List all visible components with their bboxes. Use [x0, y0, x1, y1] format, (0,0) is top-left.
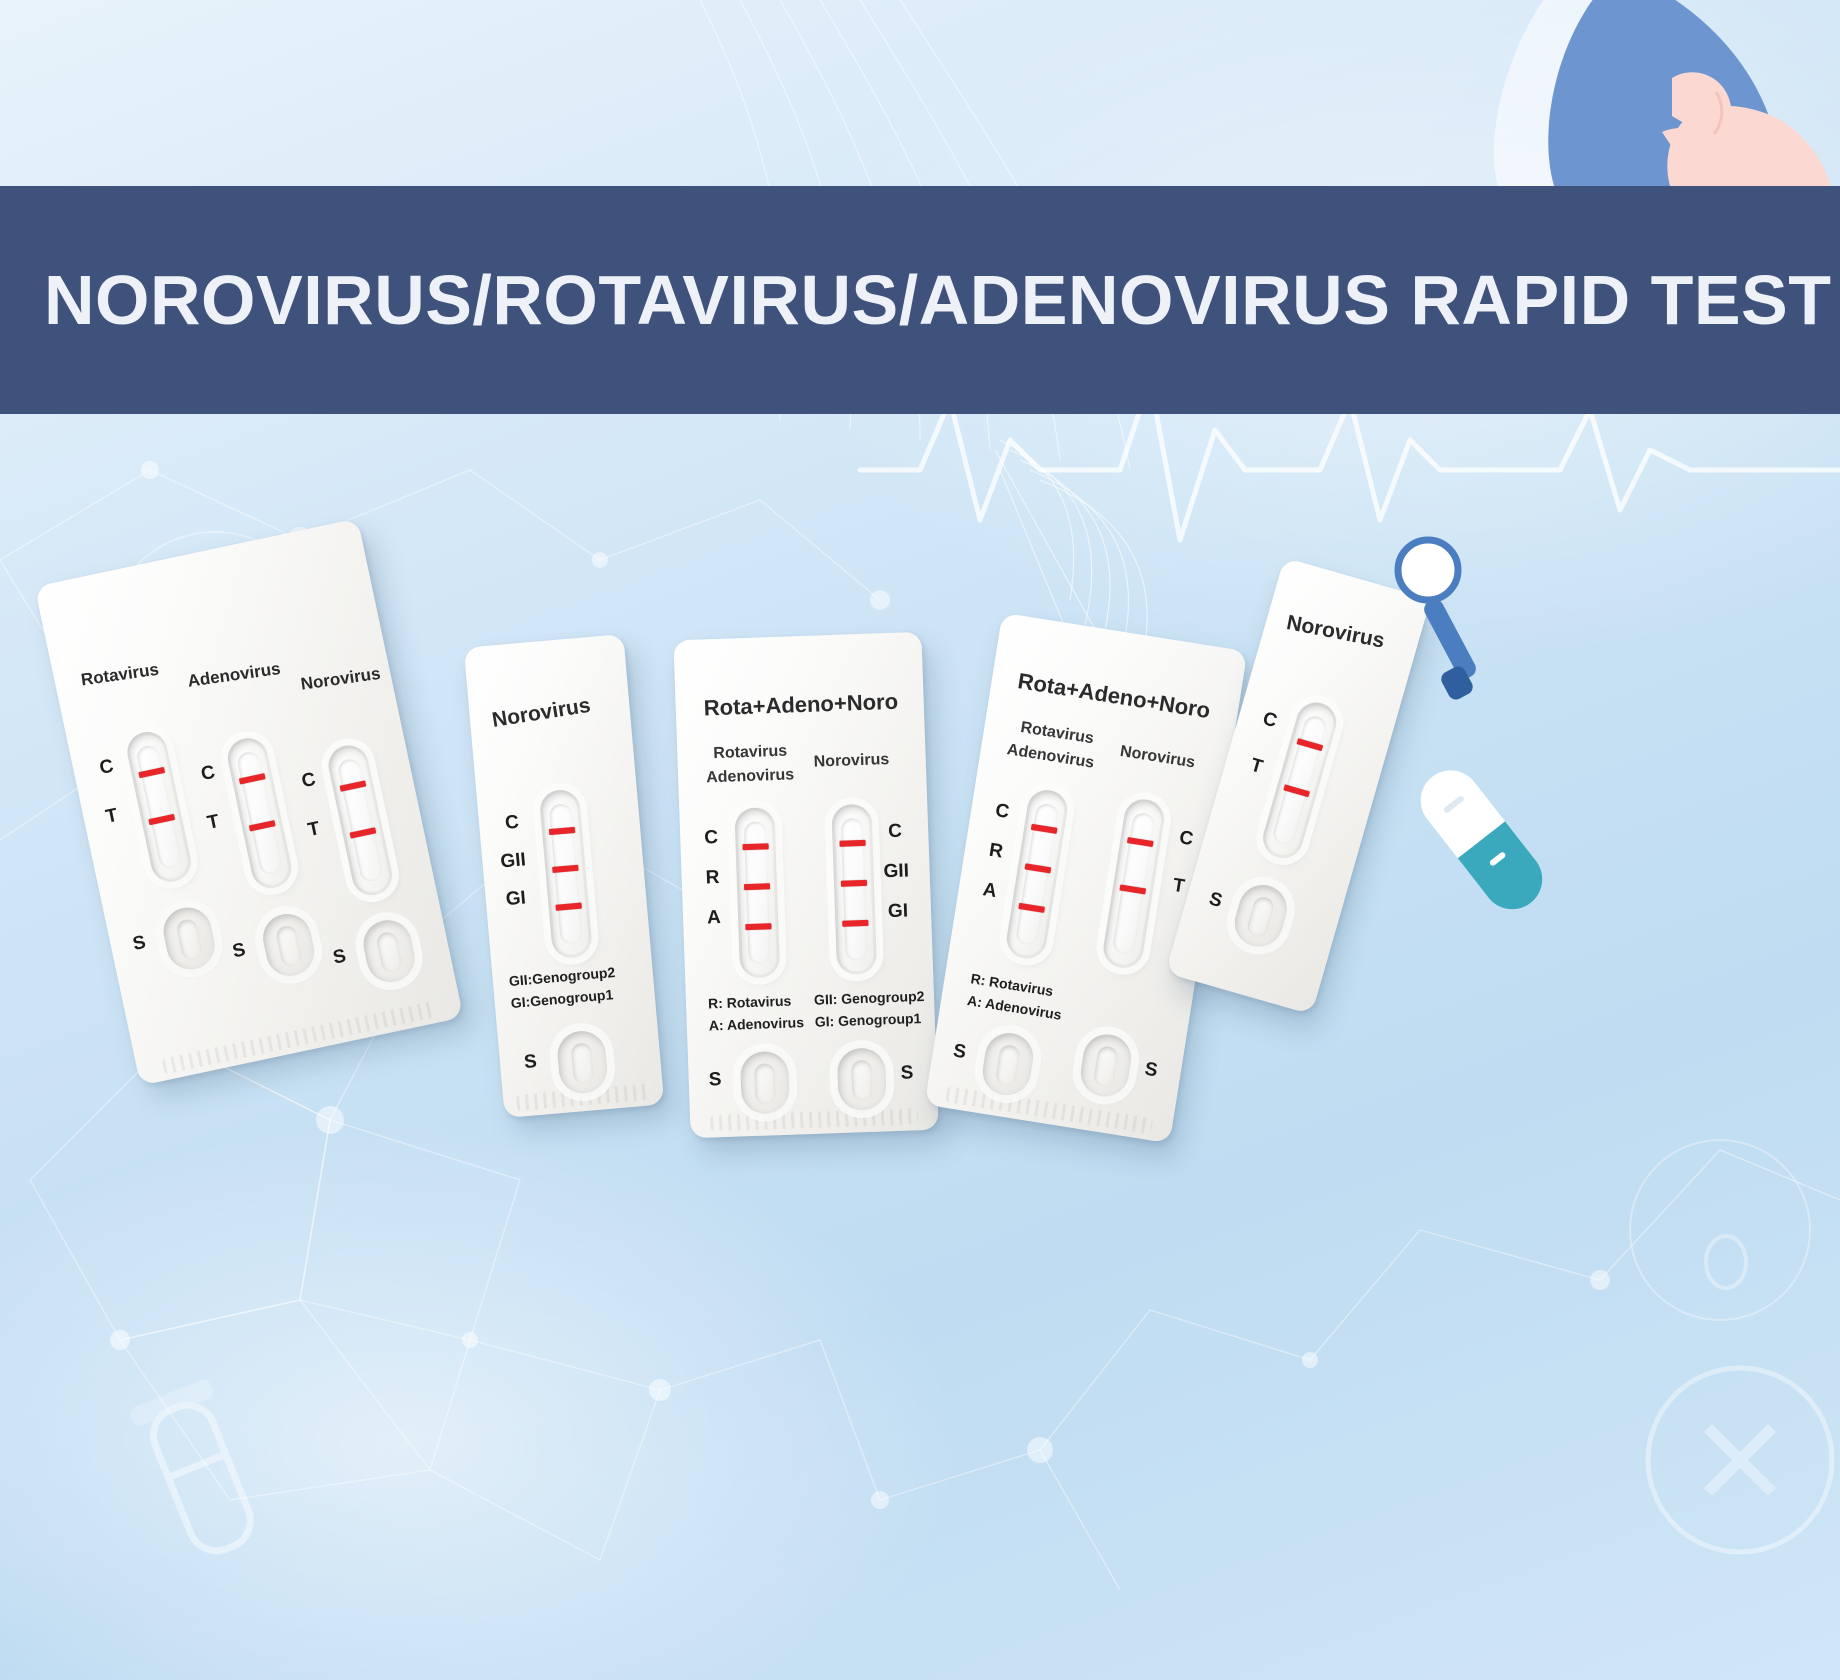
cassette-1-mark-2-T: T: [306, 818, 322, 842]
control-band: [1127, 837, 1153, 847]
test-band: [149, 814, 175, 825]
cassette-3-mark-C: C: [704, 827, 718, 849]
cassette-1-mark-2-C: C: [300, 769, 318, 793]
cassette-4-well-label-0: S: [952, 1041, 968, 1065]
cassette-3-mark-A: A: [707, 907, 721, 929]
control-band: [1031, 824, 1057, 834]
control-band: [340, 780, 366, 791]
cassette-2[interactable]: Norovirus C GII GI GII:Genogroup2 GI:Gen…: [464, 634, 665, 1118]
test-band: [350, 827, 376, 838]
test-band: [249, 820, 275, 831]
cassette-3-well-1: [837, 1047, 887, 1111]
cassette-5-brand: Norovirus: [1284, 611, 1386, 653]
cassette-1-window-2: [325, 742, 396, 899]
control-band: [139, 767, 165, 778]
cassette-5-well-0: [1229, 879, 1292, 952]
cassette-3-window-0: [734, 807, 780, 978]
gi-band: [556, 903, 582, 911]
rotavirus-band: [1025, 863, 1051, 873]
cassette-1-panel-label-0: Rotavirus: [80, 660, 160, 691]
cassette-4-mark-A: A: [981, 879, 998, 903]
test-band: [1120, 885, 1146, 895]
adenovirus-band: [746, 923, 772, 930]
grip-ridges: [710, 1108, 919, 1131]
cassette-1-mark-0-T: T: [104, 805, 120, 829]
cassette-4-mark-C2: C: [1178, 827, 1195, 851]
cassette-2-mark-GII: GII: [500, 849, 527, 873]
cassette-1-well-label-2: S: [331, 945, 348, 969]
cassette-4-window-1: [1101, 796, 1167, 970]
cassette-2-mark-GI: GI: [505, 887, 527, 911]
cassette-4-mark-R: R: [987, 840, 1004, 864]
cassette-1-well-0: [159, 903, 219, 974]
cassette-2-brand: Norovirus: [490, 694, 592, 733]
cassette-1-panel-label-2: Norovirus: [299, 664, 381, 695]
cassette-1-panel-label-1: Adenovirus: [186, 659, 281, 692]
cassette-3-well-label-1: S: [900, 1062, 913, 1084]
cassette-1-window-1: [224, 735, 295, 892]
cassette-3-mark-R: R: [705, 867, 719, 889]
cassette-3-mark-GI: GI: [888, 900, 909, 923]
cassette-2-legend-0: GII:Genogroup2: [508, 964, 616, 989]
cassette-4-brand: Rota+Adeno+Noro: [1016, 668, 1212, 724]
cassette-4-panel-label-2: Norovirus: [1119, 743, 1196, 773]
cassette-4-window-0: [1004, 787, 1070, 961]
header-banner: NOROVIRUS/ROTAVIRUS/ADENOVIRUS RAPID TES…: [0, 186, 1840, 414]
cassette-4-mark-C: C: [994, 800, 1011, 824]
cassette-3-legend-1: A: Adenovirus: [709, 1014, 805, 1033]
product-photo: Rotavirus Adenovirus Norovirus C T C T: [0, 414, 1840, 1680]
cassette-1-well-2: [359, 916, 419, 987]
cassette-4-well-1: [1077, 1031, 1134, 1100]
gi-band: [843, 920, 869, 927]
gii-band: [841, 880, 867, 887]
rotavirus-band: [744, 883, 770, 890]
cassette-1-well-label-1: S: [231, 939, 248, 963]
control-band: [743, 843, 769, 850]
cassette-3-well-0: [740, 1051, 790, 1115]
page-title: NOROVIRUS/ROTAVIRUS/ADENOVIRUS RAPID TES…: [0, 260, 1832, 340]
cassette-1-mark-0-C: C: [98, 756, 116, 780]
cassette-4-well-0: [979, 1030, 1036, 1099]
hand-illustration: [1320, 0, 1840, 192]
cassette-2-well-0: [556, 1029, 609, 1095]
cassette-3[interactable]: Rota+Adeno+Noro Rotavirus Adenovirus Nor…: [673, 632, 938, 1138]
cassette-4-well-label-1: S: [1143, 1059, 1159, 1083]
capsule-icon: [1418, 742, 1568, 912]
cassette-3-well-label-0: S: [708, 1069, 721, 1091]
cassette-1-mark-1-C: C: [199, 762, 217, 786]
cassette-2-window-0: [539, 788, 593, 959]
cassette-3-panel-label-0: Rotavirus: [713, 743, 787, 764]
cassette-3-legend-0: R: Rotavirus: [708, 993, 792, 1012]
control-band: [549, 827, 575, 835]
cassette-5-mark-C: C: [1260, 708, 1279, 733]
cassette-1-window-0: [124, 728, 195, 885]
cassette-2-legend-1: GI:Genogroup1: [510, 986, 614, 1011]
control-band: [239, 773, 265, 784]
cassette-3-panel-label-1: Adenovirus: [706, 766, 795, 787]
cassette-1-well-label-0: S: [131, 932, 148, 956]
cassette-3-legend-3: GI: Genogroup1: [814, 1010, 921, 1030]
control-band: [1297, 738, 1323, 751]
cassette-3-brand: Rota+Adeno+Noro: [703, 689, 898, 722]
cassette-3-legend-2: GII: Genogroup2: [814, 988, 925, 1008]
magnifier-icon: [1384, 528, 1524, 708]
test-band: [1284, 784, 1310, 797]
cassette-3-mark-GII: GII: [883, 860, 909, 883]
cassette-3-panel-label-2: Norovirus: [813, 751, 889, 772]
gii-band: [552, 865, 578, 873]
cassette-4-mark-T: T: [1171, 875, 1186, 899]
cassette-5-mark-T: T: [1248, 755, 1265, 779]
cassette-3-mark-C2: C: [888, 821, 902, 843]
cassette-1-mark-1-T: T: [205, 811, 221, 835]
grip-ridges: [162, 1001, 436, 1074]
adenovirus-band: [1019, 903, 1045, 913]
grip-ridges: [945, 1086, 1153, 1134]
cassette-2-well-label: S: [523, 1051, 538, 1074]
cassette-1-well-1: [259, 910, 319, 981]
cassette-3-window-1: [831, 804, 877, 975]
control-band: [840, 840, 866, 847]
cassette-1[interactable]: Rotavirus Adenovirus Norovirus C T C T: [35, 518, 464, 1085]
cassette-2-mark-C: C: [504, 812, 520, 835]
cassette-5-well-label: S: [1206, 888, 1224, 913]
